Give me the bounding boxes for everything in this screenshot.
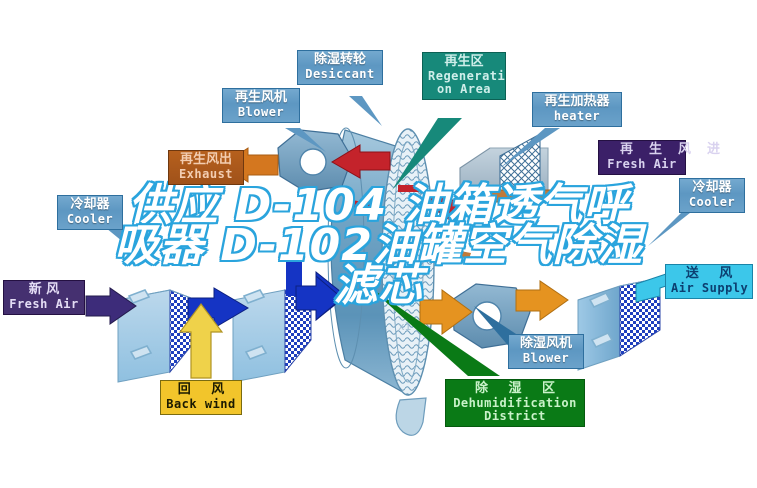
label-back-wind-en: Back wind: [166, 398, 236, 411]
label-regeneration-heater: 再生加热器 heater: [532, 92, 622, 127]
label-cooler-left-cn: 冷却器: [63, 198, 117, 213]
label-dehumidification-blower: 除湿风机 Blower: [508, 334, 584, 369]
label-fresh-air-in: 新 风 Fresh Air: [3, 280, 85, 315]
label-cooler-right-en: Cooler: [685, 196, 739, 209]
label-regeneration-exhaust-cn: 再生风出: [174, 153, 238, 168]
label-cooler-left-en: Cooler: [63, 213, 117, 226]
label-regeneration-heater-en: heater: [538, 110, 616, 123]
label-cooler-right: 冷却器 Cooler: [679, 178, 745, 213]
label-dehumidification-district-cn: 除 湿 区: [451, 382, 579, 397]
label-fresh-air-in-en: Fresh Air: [9, 298, 79, 311]
label-cooler-left: 冷却器 Cooler: [57, 195, 123, 230]
label-regeneration-blower: 再生风机 Blower: [222, 88, 300, 123]
label-regeneration-fresh-air-in: 再生风进 Fresh Air: [598, 140, 686, 175]
dehumidifier-schematic-image: x1: [0, 0, 757, 488]
label-cooler-right-cn: 冷却器: [685, 181, 739, 196]
label-dehumidification-district-en: Dehumidification: [451, 397, 579, 410]
label-air-supply-en: Air Supply: [671, 282, 747, 295]
label-dehumidification-district: 除 湿 区 Dehumidification District: [445, 379, 585, 427]
label-regeneration-area-cn: 再生区: [428, 55, 500, 70]
label-regeneration-area-en: Regenerati: [428, 70, 500, 83]
label-fresh-air-in-cn: 新 风: [9, 283, 79, 298]
label-regeneration-blower-en: Blower: [228, 106, 294, 119]
label-air-supply-cn: 送 风: [671, 267, 747, 282]
label-desiccant-wheel-cn: 除湿转轮: [303, 53, 377, 68]
label-regeneration-blower-cn: 再生风机: [228, 91, 294, 106]
label-regeneration-fresh-air-in-en: Fresh Air: [604, 158, 680, 171]
label-desiccant-wheel: 除湿转轮 Desiccant: [297, 50, 383, 85]
regeneration-heater-coil: [460, 134, 578, 202]
label-dehumidification-blower-cn: 除湿风机: [514, 337, 578, 352]
label-desiccant-wheel-en: Desiccant: [303, 68, 377, 81]
label-regeneration-heater-cn: 再生加热器: [538, 95, 616, 110]
label-regeneration-area-en2: on Area: [428, 83, 500, 96]
label-regeneration-exhaust: 再生风出 Exhaust: [168, 150, 244, 185]
label-regeneration-area: 再生区 Regenerati on Area: [422, 52, 506, 100]
label-air-supply: 送 风 Air Supply: [665, 264, 753, 299]
label-dehumidification-district-en2: District: [451, 410, 579, 423]
label-back-wind-cn: 回 风: [166, 383, 236, 398]
label-dehumidification-blower-en: Blower: [514, 352, 578, 365]
label-regeneration-fresh-air-in-cn: 再生风进: [604, 143, 680, 158]
label-back-wind: 回 风 Back wind: [160, 380, 242, 415]
label-regeneration-exhaust-en: Exhaust: [174, 168, 238, 181]
